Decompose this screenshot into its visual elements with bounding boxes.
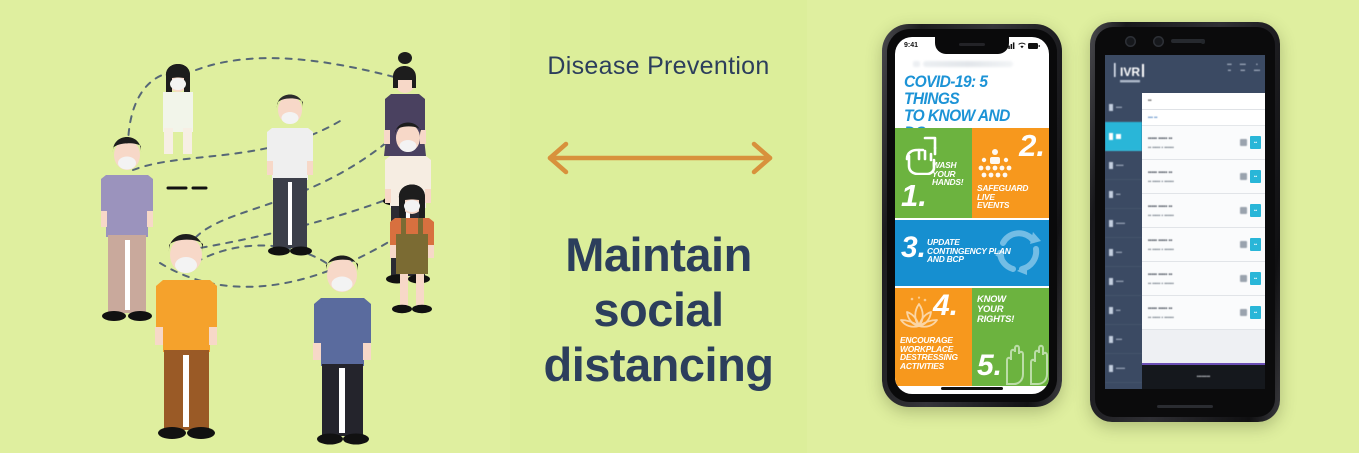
iphone-bezel: 9:41 [887, 29, 1057, 402]
list-item-subtitle: •• ••••• • •••••• [1148, 213, 1174, 218]
search-input[interactable]: •• [1142, 93, 1265, 110]
device-mockups: 9:41 [860, 0, 1359, 453]
list-item-subtitle: •• ••••• • •••••• [1148, 179, 1174, 184]
attachment-icon[interactable] [1240, 207, 1247, 214]
list-item[interactable]: ••••• ••••• •• •• ••••• • •••••• •• [1142, 262, 1265, 296]
iphone-notch [935, 37, 1009, 54]
infographic-tile-2[interactable]: 2. SAFEGUARD LIVE EVENTS [972, 128, 1049, 218]
list-item-subtitle: •• ••••• • •••••• [1148, 281, 1174, 286]
sidebar-item-4[interactable]: ••• [1105, 180, 1142, 209]
infographic-tile-1[interactable]: 1. WASH YOUR HANDS! [895, 128, 972, 218]
sidebar-item-6-label: •••• [1116, 250, 1122, 255]
sidebar-item-5-label: •••••• [1116, 221, 1125, 226]
list-item-title: ••••• ••••• •• [1148, 272, 1174, 278]
sidebar-item-3-icon [1109, 162, 1113, 169]
search-input-value: •• [1148, 98, 1152, 104]
app-content-area: •• ••• •• ••••• ••••• •• •• ••••• • ••••… [1142, 93, 1265, 389]
tile-3-number: 3. [901, 236, 926, 260]
raised-hands-icon [997, 334, 1049, 386]
app-header: IVR ••• •• •••• ••• • •••• [1105, 55, 1265, 93]
android-mockup: IVR ••• •• •••• ••• • •••• [1090, 22, 1280, 422]
list-item-title: ••••• ••••• •• [1148, 204, 1174, 210]
home-indicator[interactable] [941, 387, 1003, 390]
sidebar-item-4-label: ••• [1116, 192, 1121, 197]
sidebar-item-2[interactable]: ••• [1105, 122, 1142, 151]
sidebar-item-9-icon [1109, 336, 1113, 343]
sidebar-item-3-label: ••••• [1116, 163, 1124, 168]
footer-bar[interactable]: •••••••• [1142, 363, 1265, 389]
filter-bar[interactable]: ••• •• [1142, 110, 1265, 126]
sidebar-item-11[interactable]: ••• [1105, 383, 1142, 389]
app-sidebar: •••• ••• ••••• ••• •••••• [1105, 93, 1142, 389]
list-item[interactable]: ••••• ••••• •• •• ••••• • •••••• •• [1142, 160, 1265, 194]
sidebar-item-1-label: •••• [1116, 105, 1122, 110]
sidebar-item-9[interactable]: •••• [1105, 325, 1142, 354]
kicker-text: Disease Prevention [510, 52, 807, 81]
sidebar-item-10-icon [1109, 365, 1113, 372]
tile-3-label: UPDATE CONTINGENCY PLAN AND BCP [927, 238, 1011, 264]
filter-bar-label: ••• •• [1148, 115, 1157, 120]
list-item-action-button[interactable]: •• [1250, 272, 1261, 285]
sidebar-item-8-label: ••• [1116, 308, 1121, 313]
sidebar-item-2-icon [1109, 133, 1113, 140]
list-item-title: ••••• ••••• •• [1148, 238, 1174, 244]
ghost-placeholder-small [913, 61, 920, 67]
front-sensor-icon [1153, 36, 1164, 47]
banner-stage: Disease Prevention Maintain social dista… [0, 0, 1359, 453]
status-time: 9:41 [904, 42, 918, 49]
sidebar-item-6-icon [1109, 249, 1113, 256]
header-meta-1: ••• •• [1227, 62, 1232, 75]
header-meta-2: •••• ••• [1240, 62, 1246, 75]
attachment-icon[interactable] [1240, 309, 1247, 316]
list-item[interactable]: ••••• ••••• •• •• ••••• • •••••• •• [1142, 194, 1265, 228]
list-item-action-button[interactable]: •• [1250, 238, 1261, 251]
sidebar-item-5-icon [1109, 220, 1113, 227]
list-item-subtitle: •• ••••• • •••••• [1148, 145, 1174, 150]
sidebar-item-1[interactable]: •••• [1105, 93, 1142, 122]
list-item-action-button[interactable]: •• [1250, 170, 1261, 183]
attachment-icon[interactable] [1240, 275, 1247, 282]
infographic-title-line-1: COVID-19: 5 THINGS [904, 74, 1035, 108]
sidebar-item-10-label: •••••• [1116, 366, 1125, 371]
list-item-subtitle: •• ••••• • •••••• [1148, 315, 1174, 320]
sidebar-item-7-label: ••••• [1116, 279, 1124, 284]
sidebar-item-4-icon [1109, 191, 1113, 198]
double-headed-arrow-icon [540, 138, 780, 178]
list-item-action-button[interactable]: •• [1250, 204, 1261, 217]
headline-line-1: Maintain [510, 228, 807, 283]
earpiece-speaker-icon [1171, 39, 1205, 43]
sidebar-item-3[interactable]: ••••• [1105, 151, 1142, 180]
person-center-grey-shirt [267, 95, 313, 256]
header-meta-3: • •••• [1254, 62, 1260, 75]
sidebar-item-9-label: •••• [1116, 337, 1122, 342]
android-bezel: IVR ••• •• •••• ••• • •••• [1095, 27, 1275, 417]
tile-4-number: 4. [933, 294, 958, 318]
sidebar-item-7[interactable]: ••••• [1105, 267, 1142, 296]
page-title: Maintain social distancing [510, 228, 807, 393]
infographic-tile-grid: 1. WASH YOUR HANDS! [895, 128, 1049, 384]
app-logo: IVR [1112, 59, 1156, 89]
attachment-icon[interactable] [1240, 139, 1247, 146]
android-screen[interactable]: IVR ••• •• •••• ••• • •••• [1105, 55, 1265, 389]
sidebar-item-2-label: ••• [1116, 134, 1121, 139]
list-item-title: ••••• ••••• •• [1148, 136, 1174, 142]
sidebar-item-10[interactable]: •••••• [1105, 354, 1142, 383]
tile-2-number: 2. [1019, 134, 1045, 159]
tile-5-label: KNOW YOUR RIGHTS! [977, 294, 1014, 323]
wifi-icon [1018, 42, 1026, 49]
front-camera-icon [1125, 36, 1136, 47]
social-distancing-people-illustration [0, 0, 470, 453]
battery-icon [1028, 43, 1040, 49]
attachment-icon[interactable] [1240, 173, 1247, 180]
footer-label: •••••••• [1197, 375, 1210, 380]
android-top-bar [1095, 27, 1275, 55]
iphone-mockup: 9:41 [882, 24, 1062, 407]
headline-line-2: social [510, 283, 807, 338]
list-item-subtitle: •• ••••• • •••••• [1148, 247, 1174, 252]
list-item[interactable]: ••••• ••••• •• •• ••••• • •••••• •• [1142, 228, 1265, 262]
header-meta-group[interactable]: ••• •• •••• ••• • •••• [1227, 62, 1260, 75]
center-message-block: Disease Prevention Maintain social dista… [510, 0, 807, 453]
infographic-tile-4[interactable]: 4. ENCOURAGE WORKPLACE DESTRESSING ACTIV… [895, 288, 972, 386]
list-item[interactable]: ••••• ••••• •• •• ••••• • •••••• •• [1142, 296, 1265, 330]
person-back-left-masked-woman [163, 64, 193, 154]
person-front-blue-shirt [313, 256, 371, 445]
person-left-purple-shirt [101, 137, 153, 321]
sidebar-item-8-icon [1109, 307, 1113, 314]
list-item-action-button[interactable]: •• [1250, 136, 1261, 149]
list-item-title: ••••• ••••• •• [1148, 306, 1174, 312]
sidebar-item-8[interactable]: ••• [1105, 296, 1142, 325]
sidebar-item-1-icon [1109, 104, 1113, 111]
infographic-tile-3[interactable]: 3. UPDATE CONTINGENCY PLAN AND BCP [895, 220, 1049, 286]
headline-line-3: distancing [510, 338, 807, 393]
list-item-action-button[interactable]: •• [1250, 306, 1261, 319]
tile-2-label: SAFEGUARD LIVE EVENTS [977, 184, 1028, 210]
list-item[interactable]: ••••• ••••• •• •• ••••• • •••••• •• [1142, 126, 1265, 160]
covid-infographic: COVID-19: 5 THINGS TO KNOW AND DO [895, 54, 1049, 384]
android-chin-speaker [1157, 405, 1213, 408]
list-item-title: ••••• ••••• •• [1148, 170, 1174, 176]
tile-1-number: 1. [901, 184, 927, 209]
earpiece-speaker-icon [959, 43, 985, 46]
tile-1-label: WASH YOUR HANDS! [932, 161, 963, 187]
ghost-placeholder-bar [923, 61, 1013, 67]
sidebar-item-5[interactable]: •••••• [1105, 209, 1142, 238]
audience-event-icon [977, 148, 1013, 180]
attachment-icon[interactable] [1240, 241, 1247, 248]
svg-text:IVR: IVR [1120, 65, 1140, 79]
sidebar-item-7-icon [1109, 278, 1113, 285]
iphone-screen[interactable]: 9:41 [895, 37, 1049, 394]
tile-4-label: ENCOURAGE WORKPLACE DESTRESSING ACTIVITI… [900, 336, 958, 371]
infographic-tile-5[interactable]: KNOW YOUR RIGHTS! 5. [972, 288, 1049, 386]
proximity-sensor-icon [1201, 40, 1205, 44]
tile-5-number: 5. [977, 354, 1002, 378]
sidebar-item-6[interactable]: •••• [1105, 238, 1142, 267]
